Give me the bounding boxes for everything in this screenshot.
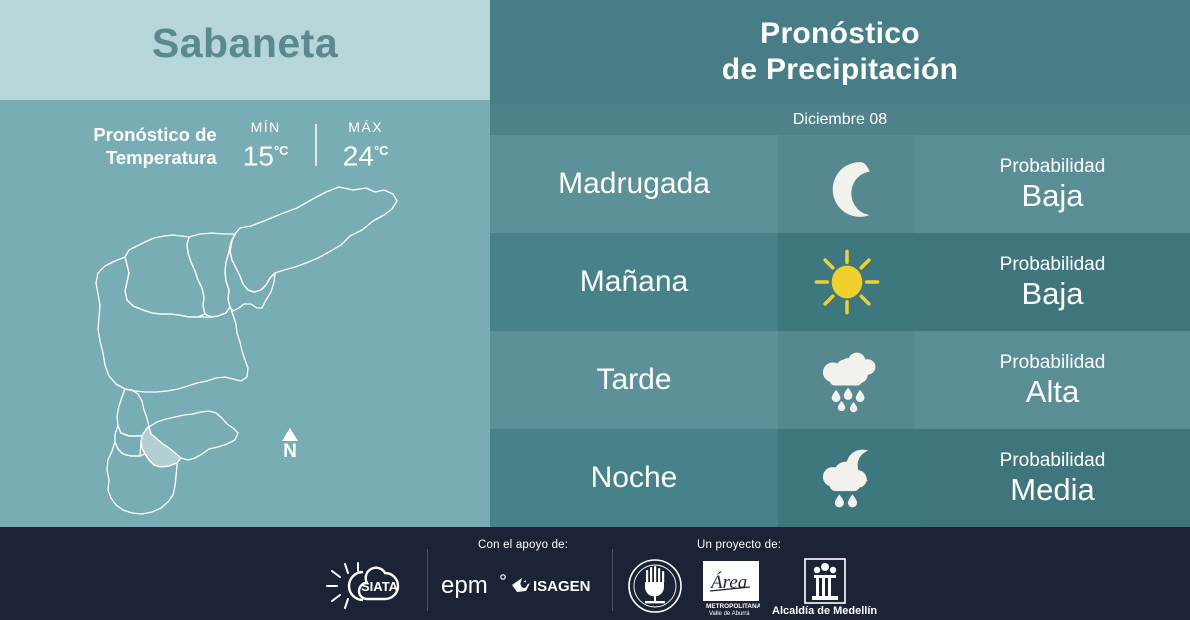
- forecast-probability-cell: Probabilidad Alta: [915, 331, 1190, 429]
- project-caption: Un proyecto de:: [697, 539, 781, 551]
- area-metropolitana-logo: Área METROPOLITANA Valle de Aburrá: [702, 560, 760, 616]
- temperature-summary: Pronóstico de Temperatura MÍN 15°C MÁX 2…: [0, 118, 490, 178]
- forecast-period-cell: Madrugada: [490, 135, 778, 233]
- udea-seal-logo: [627, 557, 683, 615]
- temperature-min-unit: °C: [274, 143, 289, 158]
- area-logo-sub2: Valle de Aburrá: [709, 611, 750, 616]
- temperature-min-value: 15: [243, 140, 274, 171]
- temperature-max: MÁX 24°C: [335, 118, 397, 171]
- left-panel: Sabaneta Pronóstico de Temperatura MÍN 1…: [0, 0, 490, 527]
- temperature-divider: [315, 124, 317, 166]
- area-logo-sub1: METROPOLITANA: [706, 603, 760, 610]
- epm-logo-text: epm: [441, 572, 488, 599]
- alcaldia-label: Alcaldía de Medellín: [772, 605, 952, 617]
- temperature-min: MÍN 15°C: [235, 118, 297, 171]
- forecast-date: Diciembre 08: [793, 111, 887, 129]
- municipality-map: [85, 178, 425, 518]
- isagen-logo: ISAGEN: [512, 574, 596, 596]
- siata-logo-text: SIATA: [361, 579, 399, 594]
- forecast-period-cell: Noche: [490, 429, 778, 527]
- infographic-root: Sabaneta Pronóstico de Temperatura MÍN 1…: [0, 0, 1190, 620]
- alcaldia-shield-logo: [801, 557, 849, 605]
- support-caption: Con el apoyo de:: [478, 539, 568, 551]
- epm-logo: epm: [441, 570, 509, 600]
- probability-word: Probabilidad: [1000, 449, 1106, 472]
- table-row[interactable]: Mañana: [490, 233, 1190, 331]
- temperature-max-value-wrap: 24°C: [335, 136, 397, 171]
- forecast-period-label: Noche: [591, 461, 678, 495]
- forecast-icon-cell: [778, 331, 915, 429]
- forecast-header: Pronóstico de Precipitación: [490, 0, 1190, 104]
- probability-level: Media: [1010, 472, 1094, 507]
- isagen-logo-text: ISAGEN: [533, 578, 591, 595]
- city-band: Sabaneta: [0, 0, 490, 100]
- forecast-icon-cell: [778, 135, 915, 233]
- table-row[interactable]: Noche: [490, 429, 1190, 527]
- forecast-probability-cell: Probabilidad Baja: [915, 233, 1190, 331]
- table-row[interactable]: Tarde: [490, 331, 1190, 429]
- probability-level: Alta: [1026, 374, 1079, 409]
- table-row[interactable]: Madrugada Probabilidad Baja: [490, 135, 1190, 233]
- map-band: Pronóstico de Temperatura MÍN 15°C MÁX 2…: [0, 100, 490, 527]
- temperature-min-label: MÍN: [235, 118, 297, 136]
- temperature-max-label: MÁX: [335, 118, 397, 136]
- forecast-probability-cell: Probabilidad Baja: [915, 135, 1190, 233]
- forecast-period-label: Mañana: [580, 265, 688, 299]
- moon-icon: [812, 149, 882, 219]
- right-panel: Pronóstico de Precipitación Diciembre 08…: [490, 0, 1190, 527]
- forecast-probability-cell: Probabilidad Media: [915, 429, 1190, 527]
- footer-divider: [427, 549, 428, 611]
- siata-logo: SIATA: [325, 562, 425, 610]
- moon-rain-cloud-icon: [812, 443, 882, 513]
- temperature-min-value-wrap: 15°C: [235, 136, 297, 171]
- sun-icon: [812, 247, 882, 317]
- forecast-title: Pronóstico de Precipitación: [722, 16, 959, 88]
- probability-word: Probabilidad: [1000, 155, 1106, 178]
- probability-level: Baja: [1021, 178, 1083, 213]
- footer-divider: [612, 549, 613, 611]
- temperature-max-unit: °C: [374, 143, 389, 158]
- forecast-period-label: Madrugada: [558, 167, 710, 201]
- compass-north-label: N: [278, 442, 302, 461]
- forecast-period-cell: Tarde: [490, 331, 778, 429]
- forecast-icon-cell: [778, 429, 915, 527]
- temperature-max-value: 24: [343, 140, 374, 171]
- forecast-period-label: Tarde: [596, 363, 671, 397]
- forecast-rows: Madrugada Probabilidad Baja Mañ: [490, 135, 1190, 527]
- rain-cloud-icon: [812, 345, 882, 415]
- forecast-date-bar: Diciembre 08: [490, 104, 1190, 135]
- probability-level: Baja: [1021, 276, 1083, 311]
- temperature-title: Pronóstico de Temperatura: [93, 118, 216, 169]
- probability-word: Probabilidad: [1000, 253, 1106, 276]
- forecast-icon-cell: [778, 233, 915, 331]
- page-title: Sabaneta: [0, 20, 490, 67]
- compass-rose: N: [278, 428, 302, 461]
- probability-word: Probabilidad: [1000, 351, 1106, 374]
- compass-needle-icon: [282, 428, 298, 441]
- forecast-period-cell: Mañana: [490, 233, 778, 331]
